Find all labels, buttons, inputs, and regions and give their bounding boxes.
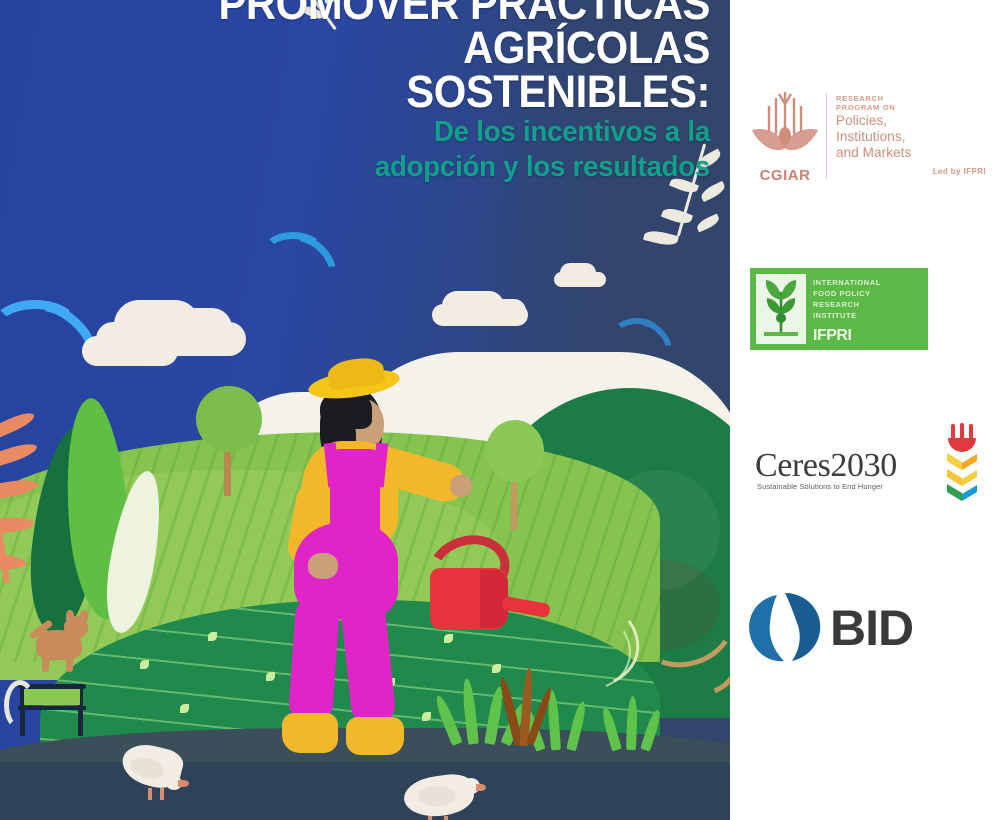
ceres2030-tagline: Sustainable Solutions to End Hunger (757, 482, 883, 491)
ifpri-plant-icon (756, 274, 806, 344)
farmer-boot (346, 717, 404, 755)
ifpri-line-3: RESEARCH (813, 300, 922, 311)
ifpri-line-1: INTERNATIONAL (813, 278, 922, 289)
bid-wordmark: BID (830, 599, 913, 657)
cream-leaf (112, 470, 172, 640)
ifpri-line-4: INSTITUTE (813, 311, 922, 322)
ifpri-text-block: INTERNATIONAL FOOD POLICY RESEARCH INSTI… (806, 274, 922, 344)
ceres2030-logo: Ceres2030 Sustainable Solutions to End H… (745, 425, 990, 505)
cgiar-wordmark: CGIAR (746, 167, 824, 184)
tree (486, 420, 544, 530)
swallow-bird-icon (612, 318, 668, 354)
ifpri-logo: INTERNATIONAL FOOD POLICY RESEARCH INSTI… (750, 268, 928, 350)
cover-title-block: PROMOVER PRÁCTICAS AGRÍCOLAS SOSTENIBLES… (120, 0, 710, 183)
farmer-boot (282, 713, 338, 753)
ceres2030-wordmark: Ceres2030 (755, 447, 897, 485)
watering-can (422, 536, 552, 646)
cloud (96, 322, 246, 356)
farmer-hand-left (308, 553, 338, 579)
cgiar-program-line-2: Institutions, (836, 129, 986, 145)
ifpri-line-2: FOOD POLICY (813, 289, 922, 300)
ceres2030-wheat-icon (941, 423, 983, 503)
cgiar-kicker-line-2: PROGRAM ON (836, 104, 986, 113)
logo-panel: CGIAR RESEARCH PROGRAM ON Policies, Inst… (730, 0, 1000, 820)
cgiar-divider (826, 93, 827, 179)
farmer-leg-front (288, 594, 341, 727)
cat (26, 604, 96, 674)
cgiar-logo: CGIAR RESEARCH PROGRAM ON Policies, Inst… (746, 78, 986, 193)
cloud (432, 304, 528, 326)
bid-logo: BID (744, 588, 974, 668)
tree (196, 386, 262, 496)
chicken (118, 740, 192, 802)
farmer-hand-right (450, 475, 472, 497)
cgiar-program-line-1: Policies, (836, 113, 986, 129)
cgiar-text-block: RESEARCH PROGRAM ON Policies, Institutio… (836, 95, 986, 176)
title-line-2: AGRÍCOLAS SOSTENIBLES: (161, 26, 710, 114)
bid-globe-icon (744, 591, 822, 665)
cgiar-program-line-3: and Markets (836, 145, 986, 161)
swallow-bird-icon (0, 300, 90, 360)
ifpri-name-lines: INTERNATIONAL FOOD POLICY RESEARCH INSTI… (813, 274, 922, 322)
cloud (554, 272, 606, 287)
ifpri-wordmark: IFPRI (813, 328, 922, 344)
swallow-bird-icon (262, 232, 332, 276)
cgiar-mark-icon: CGIAR (746, 86, 824, 186)
subtitle-line-2: adopción y los resultados (150, 152, 711, 183)
wheelbarrow (8, 672, 98, 752)
cgiar-led-by: Led by IFPRI (836, 167, 986, 176)
watering-can-spout (501, 596, 551, 618)
report-cover-page: PROMOVER PRÁCTICAS AGRÍCOLAS SOSTENIBLES… (0, 0, 1000, 820)
subtitle-line-1: De los incentivos a la (150, 117, 711, 148)
